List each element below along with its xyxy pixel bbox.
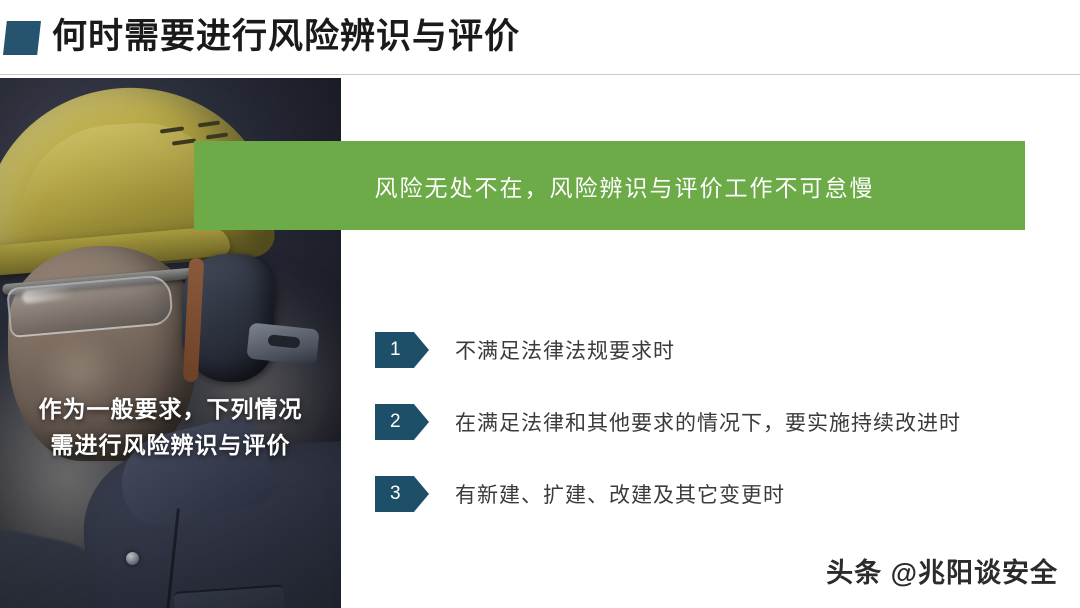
list-item-text: 不满足法律法规要求时 bbox=[455, 335, 675, 365]
slide-canvas: 何时需要进行风险辨识与评价 bbox=[0, 0, 1080, 608]
list-item: 2 在满足法律和其他要求的情况下，要实施持续改进时 bbox=[375, 402, 1035, 442]
photo-caption-line-2: 需进行风险辨识与评价 bbox=[0, 427, 341, 463]
list-item-number: 3 bbox=[390, 483, 401, 505]
list-item-number: 1 bbox=[390, 339, 401, 361]
list-item-number: 2 bbox=[390, 411, 401, 433]
list-item: 1 不满足法律法规要求时 bbox=[375, 330, 1035, 370]
page-title: 何时需要进行风险辨识与评价 bbox=[52, 14, 520, 60]
photo-caption: 作为一般要求，下列情况 需进行风险辨识与评价 bbox=[0, 391, 341, 463]
list-item-text: 在满足法律和其他要求的情况下，要实施持续改进时 bbox=[455, 407, 961, 437]
list-item-text: 有新建、扩建、改建及其它变更时 bbox=[455, 479, 785, 509]
watermark: 头条 @兆阳谈安全 bbox=[826, 551, 1058, 590]
list-item-badge-3: 3 bbox=[375, 476, 429, 512]
highlight-banner: 风险无处不在，风险辨识与评价工作不可怠慢 bbox=[194, 141, 1025, 230]
list-item-badge-1: 1 bbox=[375, 332, 429, 368]
list-item: 3 有新建、扩建、改建及其它变更时 bbox=[375, 474, 1035, 514]
title-accent-shape bbox=[3, 21, 41, 55]
condition-list: 1 不满足法律法规要求时 2 在满足法律和其他要求的情况下，要实施持续改进时 3… bbox=[375, 330, 1035, 546]
slide-header: 何时需要进行风险辨识与评价 bbox=[0, 0, 1080, 76]
highlight-banner-text: 风险无处不在，风险辨识与评价工作不可怠慢 bbox=[345, 169, 875, 203]
photo-caption-line-1: 作为一般要求，下列情况 bbox=[0, 391, 341, 427]
header-divider bbox=[0, 74, 1080, 75]
list-item-badge-2: 2 bbox=[375, 404, 429, 440]
